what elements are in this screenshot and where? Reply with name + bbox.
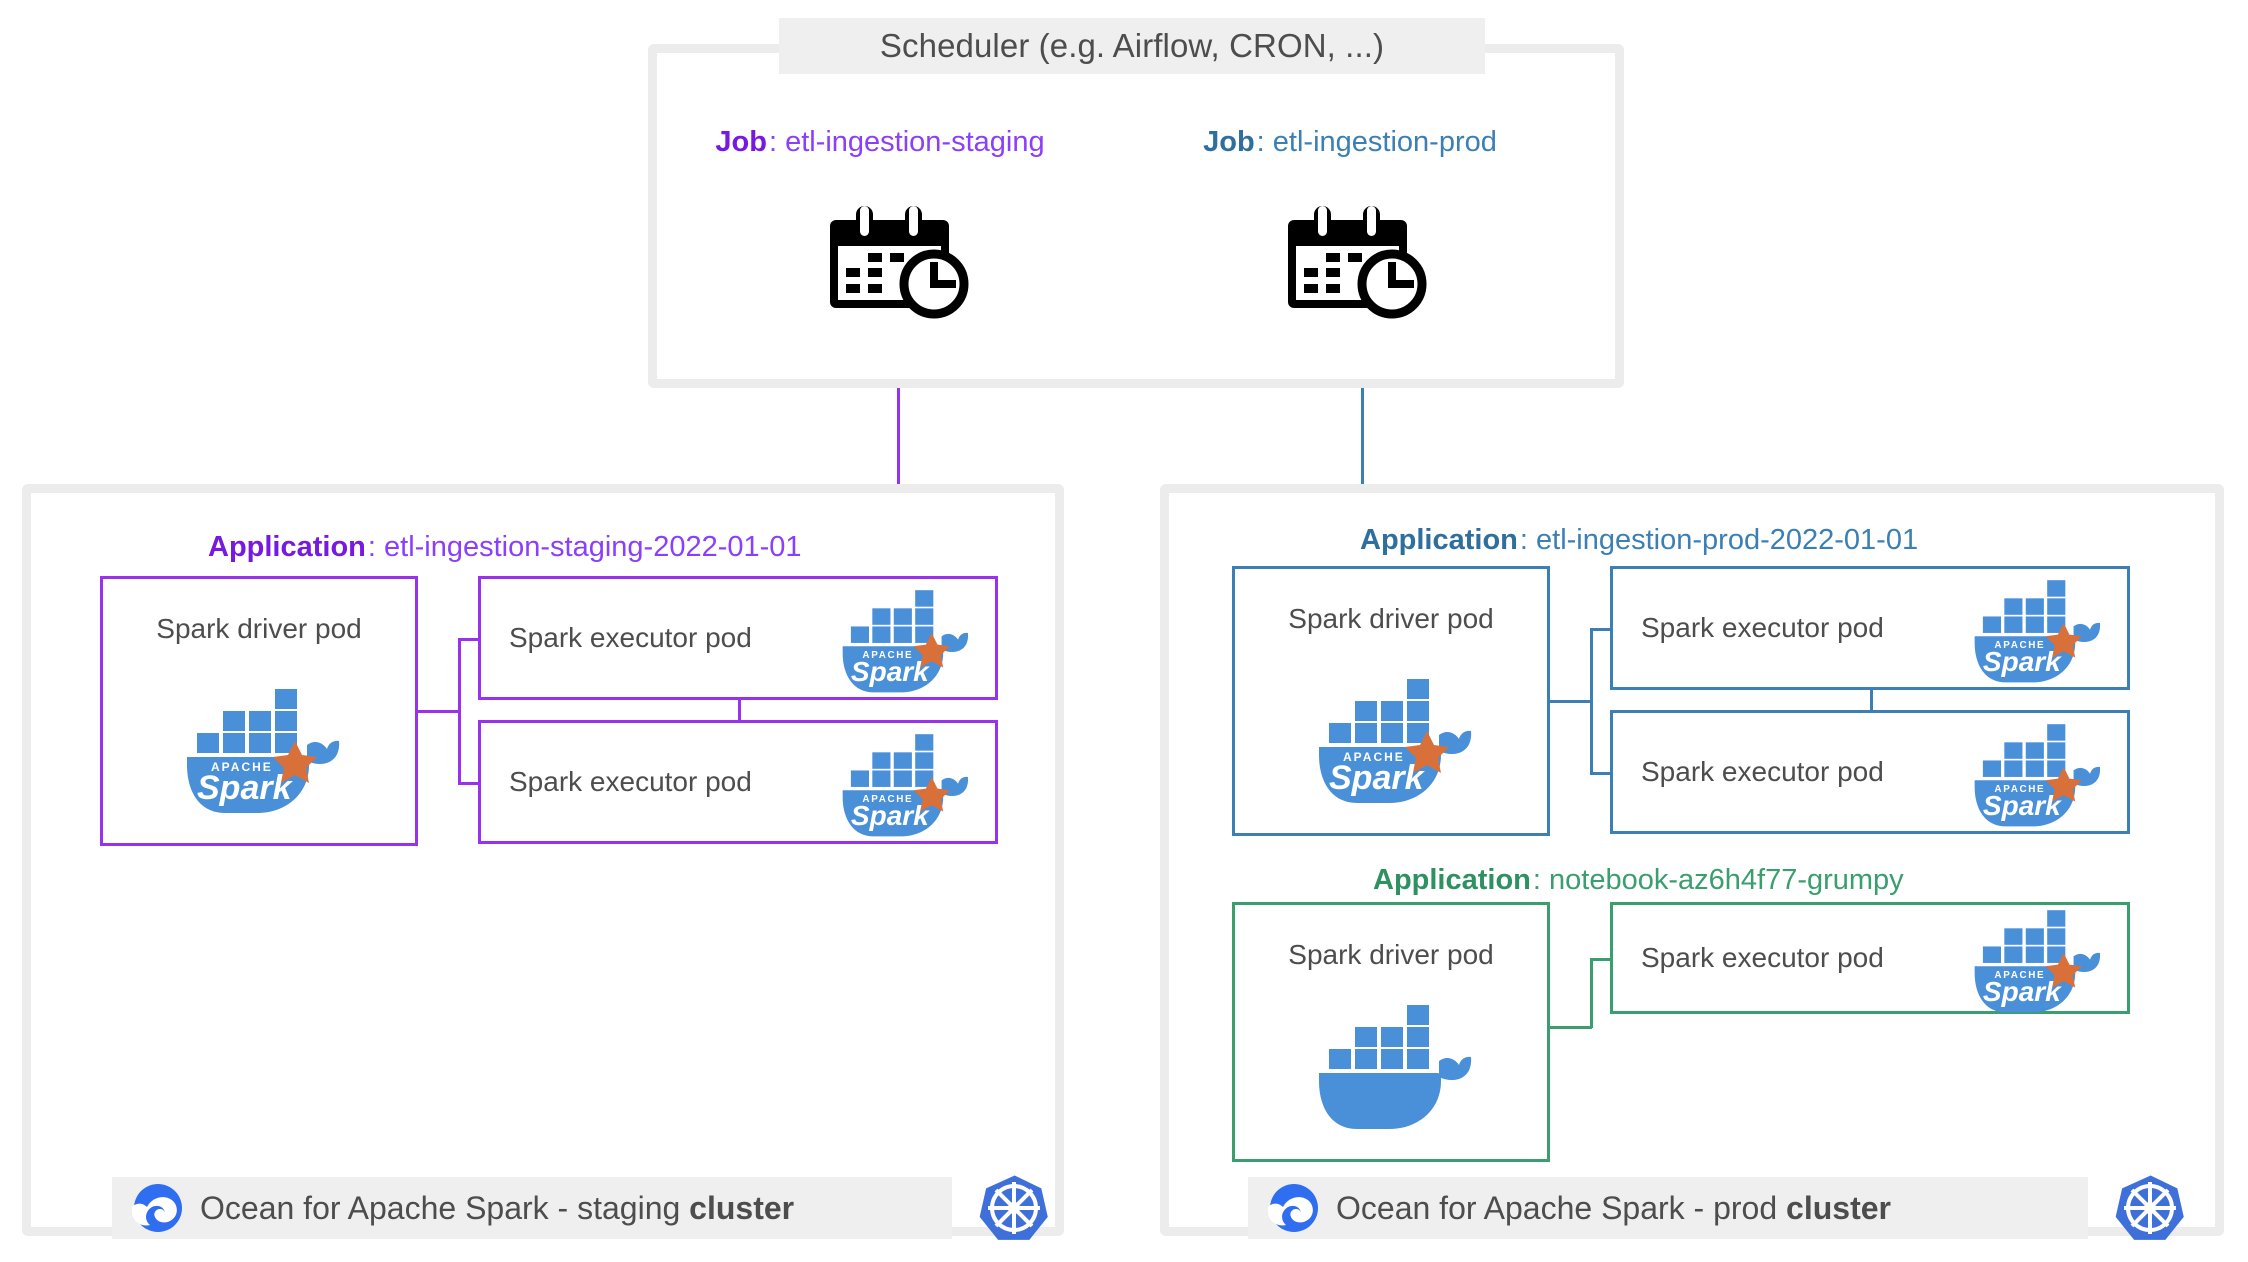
scheduler-container: [648, 44, 1624, 388]
kubernetes-helm-icon: [976, 1170, 1052, 1246]
connector-staging-to-exec1: [458, 638, 480, 641]
spark-executor-pod-staging-2: Spark executor pod APACHE Spark: [478, 720, 998, 844]
svg-text:Spark: Spark: [1329, 759, 1426, 797]
docker-spark-logo: APACHE Spark: [1959, 567, 2109, 689]
svg-text:Spark: Spark: [197, 769, 294, 807]
spark-executor-pod-notebook-1: Spark executor pod APACHE Spark: [1610, 902, 2130, 1014]
arrow-scheduler-to-prod-line: [1361, 388, 1364, 490]
spark-driver-pod-notebook: Spark driver pod: [1232, 902, 1550, 1162]
docker-spark-logo: APACHE Spark: [1959, 711, 2109, 833]
cluster-footer-staging: Ocean for Apache Spark - staging cluster: [112, 1177, 952, 1239]
application-name: etl-ingestion-staging-2022-01-01: [384, 531, 802, 564]
ocean-wave-icon: [1260, 1177, 1322, 1239]
docker-spark-logo: APACHE Spark: [1959, 897, 2109, 1019]
spark-driver-pod-prod: Spark driver pod APACHE Spark: [1232, 566, 1550, 836]
docker-spark-logo: APACHE Spark: [1301, 663, 1481, 811]
pod-label: Spark executor pod: [509, 622, 752, 654]
job-prefix: Job: [1203, 126, 1255, 159]
spark-driver-pod-staging: Spark driver pod APACHE Spark: [100, 576, 418, 846]
application-label-etl-prod: Application: etl-ingestion-prod-2022-01-…: [1360, 524, 1918, 557]
cluster-footer-text: Ocean for Apache Spark - staging: [200, 1190, 689, 1226]
kubernetes-helm-icon: [2112, 1170, 2188, 1246]
connector-staging-bus: [458, 638, 461, 784]
connector-notebook-driver-stub: [1550, 1026, 1592, 1029]
arrow-scheduler-to-staging-line: [897, 388, 900, 490]
application-label-notebook: Application: notebook-az6h4f77-grumpy: [1373, 864, 1904, 897]
docker-whale-logo: [1301, 989, 1481, 1137]
pod-label: Spark driver pod: [1235, 939, 1547, 971]
docker-spark-logo: APACHE Spark: [827, 721, 977, 843]
cluster-footer-label: Ocean for Apache Spark - prod cluster: [1336, 1190, 1891, 1227]
job-label-prod: Job: etl-ingestion-prod: [1130, 126, 1570, 159]
application-name: etl-ingestion-prod-2022-01-01: [1536, 524, 1918, 557]
application-prefix: Application: [1360, 524, 1518, 557]
svg-text:Spark: Spark: [1983, 790, 2062, 821]
svg-text:Spark: Spark: [851, 656, 930, 687]
application-prefix: Application: [208, 531, 366, 564]
connector-prod-to-exec2: [1590, 772, 1612, 775]
cluster-footer-bold: cluster: [689, 1190, 794, 1226]
pod-label: Spark executor pod: [1641, 756, 1884, 788]
svg-text:Spark: Spark: [1983, 646, 2062, 677]
application-label-etl-staging: Application: etl-ingestion-staging-2022-…: [208, 531, 802, 564]
docker-spark-logo: APACHE Spark: [169, 673, 349, 821]
spark-executor-pod-staging-1: Spark executor pod APACHE Spark: [478, 576, 998, 700]
connector-notebook-to-exec1: [1590, 958, 1612, 961]
pod-label: Spark executor pod: [1641, 612, 1884, 644]
docker-spark-logo: APACHE Spark: [827, 577, 977, 699]
spark-executor-pod-prod-1: Spark executor pod APACHE Spark: [1610, 566, 2130, 690]
pod-label: Spark executor pod: [1641, 942, 1884, 974]
pod-label: Spark driver pod: [103, 613, 415, 645]
pod-label: Spark driver pod: [1235, 603, 1547, 635]
svg-text:Spark: Spark: [1983, 976, 2062, 1007]
job-label-staging: Job: etl-ingestion-staging: [630, 126, 1130, 159]
scheduler-title: Scheduler (e.g. Airflow, CRON, ...): [779, 18, 1485, 74]
connector-staging-to-exec2: [458, 782, 480, 785]
pod-label: Spark executor pod: [509, 766, 752, 798]
connector-notebook-bus: [1590, 958, 1593, 1028]
cluster-footer-bold: cluster: [1786, 1190, 1891, 1226]
job-name: etl-ingestion-prod: [1273, 126, 1497, 159]
spark-executor-pod-prod-2: Spark executor pod APACHE Spark: [1610, 710, 2130, 834]
calendar-clock-icon: [1288, 198, 1438, 320]
cluster-footer-text: Ocean for Apache Spark - prod: [1336, 1190, 1786, 1226]
application-separator: :: [368, 531, 376, 564]
application-prefix: Application: [1373, 864, 1531, 897]
job-name: etl-ingestion-staging: [785, 126, 1045, 159]
connector-prod-bus: [1590, 628, 1593, 774]
connector-prod-driver-stub: [1550, 700, 1592, 703]
job-separator: :: [1257, 126, 1265, 159]
application-separator: :: [1520, 524, 1528, 557]
job-prefix: Job: [715, 126, 767, 159]
connector-staging-exec-link: [738, 700, 741, 722]
ocean-wave-icon: [124, 1177, 186, 1239]
calendar-clock-icon: [830, 198, 980, 320]
connector-staging-driver-stub: [418, 710, 460, 713]
application-separator: :: [1533, 864, 1541, 897]
connector-prod-exec-link: [1870, 690, 1873, 712]
connector-prod-to-exec1: [1590, 628, 1612, 631]
application-name: notebook-az6h4f77-grumpy: [1549, 864, 1904, 897]
job-separator: :: [769, 126, 777, 159]
cluster-footer-prod: Ocean for Apache Spark - prod cluster: [1248, 1177, 2088, 1239]
svg-text:Spark: Spark: [851, 800, 930, 831]
cluster-footer-label: Ocean for Apache Spark - staging cluster: [200, 1190, 794, 1227]
